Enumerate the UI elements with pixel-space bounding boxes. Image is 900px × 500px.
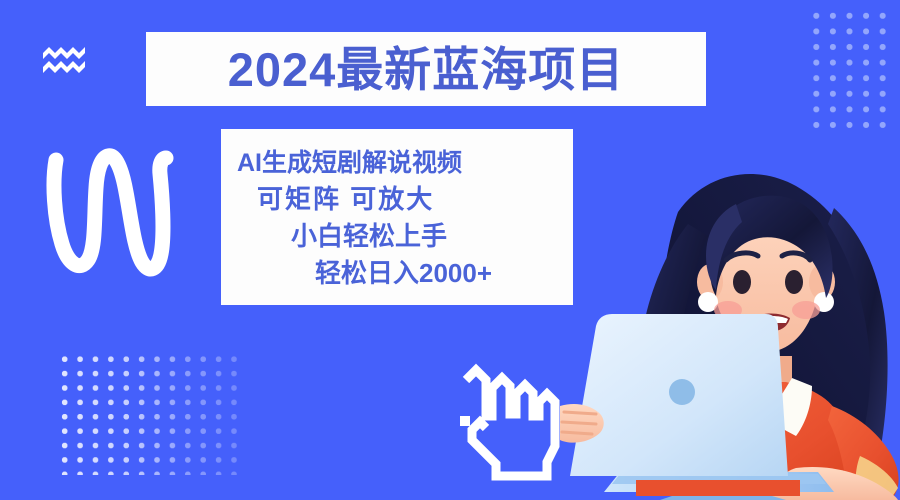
title-card: 2024最新蓝海项目 <box>146 32 706 106</box>
subtitle-line-2: 可矩阵 可放大 <box>235 181 559 218</box>
dot-grid-top-right-icon <box>808 8 894 133</box>
subtitle-line-3: 小白轻松上手 <box>235 218 559 255</box>
dot-grid-bottom-left-icon <box>57 352 243 475</box>
subtitle-line-4: 轻松日入2000+ <box>235 255 559 292</box>
subtitle-line-1: AI生成短剧解说视频 <box>235 146 559 182</box>
pointing-hand-cursor-icon <box>452 358 566 490</box>
subtitle-card: AI生成短剧解说视频 可矩阵 可放大 小白轻松上手 轻松日入2000+ <box>221 129 573 305</box>
w-squiggle-icon <box>38 136 174 288</box>
wave-icon <box>42 44 86 78</box>
page-title: 2024最新蓝海项目 <box>228 46 625 93</box>
poster-canvas: 2024最新蓝海项目 AI生成短剧解说视频 可矩阵 可放大 小白轻松上手 轻松日… <box>0 0 900 500</box>
woman-with-laptop-illustration <box>560 120 900 500</box>
